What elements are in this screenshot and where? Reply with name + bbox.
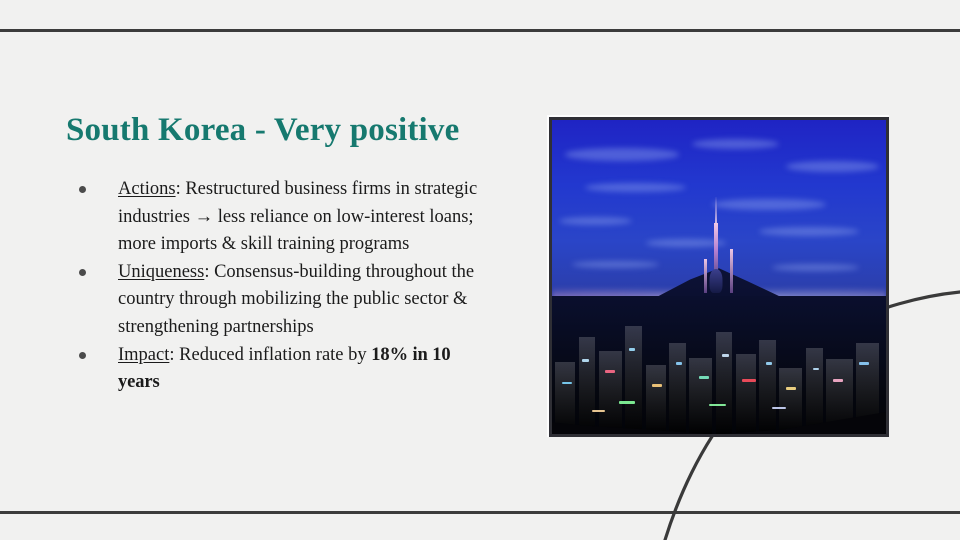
n-seoul-tower-pod — [710, 269, 723, 293]
cloud — [759, 227, 859, 236]
list-item: Actions: Restructured business firms in … — [70, 176, 490, 259]
cloud — [786, 161, 880, 172]
list-item: Uniqueness: Consensus-building throughou… — [70, 259, 490, 342]
list-item: Impact: Reduced inflation rate by 18% in… — [70, 342, 490, 397]
list-item-text: Actions: Restructured business firms in … — [118, 176, 490, 259]
antenna — [730, 249, 733, 293]
seoul-night-photo — [549, 117, 889, 437]
list-item-separator: : — [204, 262, 214, 282]
bullet-dot-icon — [79, 352, 86, 359]
bullet-dot-icon — [79, 269, 86, 276]
list-item-text: Impact: Reduced inflation rate by 18% in… — [118, 342, 490, 397]
top-divider-line — [0, 29, 960, 32]
bullet-list: Actions: Restructured business firms in … — [70, 176, 490, 397]
list-item-lead: Actions — [118, 179, 176, 199]
cloud — [585, 183, 685, 192]
page-title: South Korea - Very positive — [66, 112, 459, 149]
list-item-text: Uniqueness: Consensus-building throughou… — [118, 259, 490, 342]
cloud — [692, 139, 779, 149]
photo-content — [552, 120, 886, 434]
antenna — [704, 259, 707, 293]
list-item-separator: : — [169, 345, 179, 365]
city-skyline — [552, 296, 886, 434]
bottom-divider-line — [0, 511, 960, 514]
list-item-separator: : — [176, 179, 186, 199]
list-item-lead: Impact — [118, 345, 169, 365]
bullet-dot-icon — [79, 186, 86, 193]
list-item-body: Reduced inflation rate by — [179, 345, 371, 365]
list-item-lead: Uniqueness — [118, 262, 204, 282]
slide-canvas: South Korea - Very positive Actions: Res… — [0, 0, 960, 540]
cloud — [565, 148, 679, 161]
